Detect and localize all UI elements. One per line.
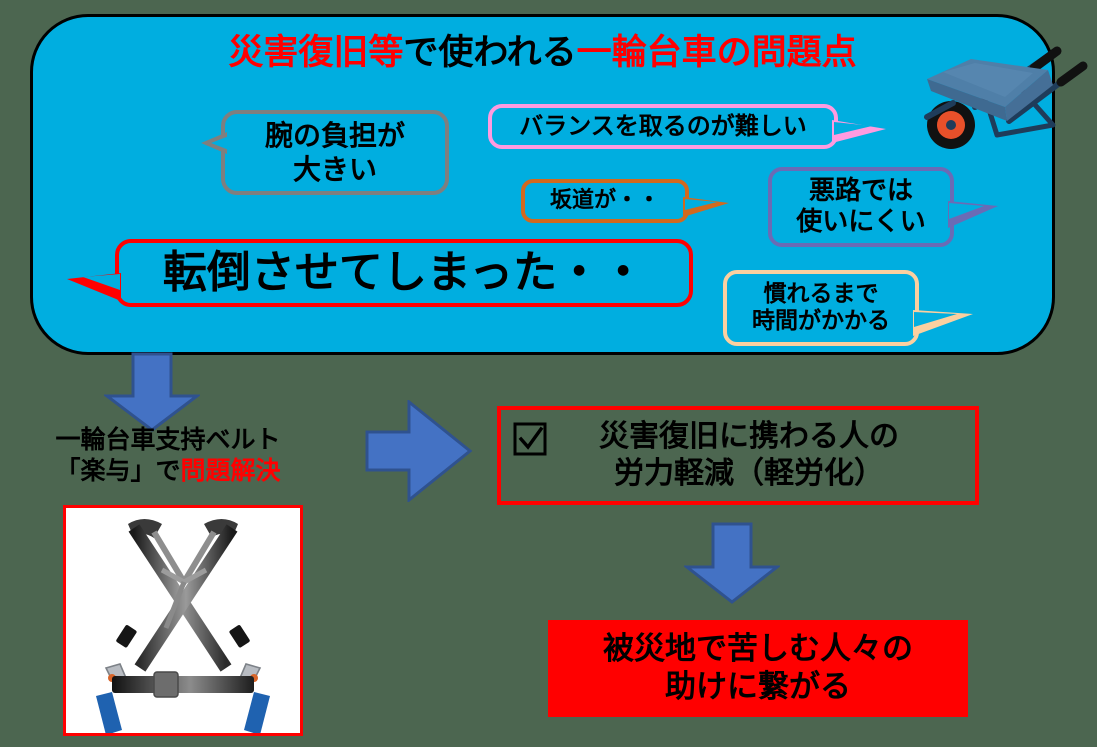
- page-title-part2: で使われる: [403, 33, 576, 73]
- belt-caption-line2-red: 問題解決: [181, 456, 281, 485]
- page-title: 災害復旧等で使われる一輪台車の問題点: [33, 35, 1052, 72]
- speech-bubble-tail-fill: [211, 136, 229, 150]
- speech-bubble-rough-road-text: 悪路では 使いにくい: [796, 176, 925, 237]
- speech-bubble-tipped-over-text: 転倒させてしまった・・: [163, 247, 645, 299]
- belt-caption-line1: 一輪台車支持ベルト: [55, 425, 280, 454]
- speech-bubble-arm-burden: 腕の負担が 大きい: [221, 110, 449, 195]
- speech-bubble-tail-fill: [83, 274, 120, 290]
- result-text-line2: 助けに繋がる: [665, 669, 851, 705]
- bubble-line-2: 使いにくい: [796, 207, 925, 237]
- problem-panel: 災害復旧等で使われる一輪台車の問題点 腕の負担が 大きい バランスを取るのが難し…: [30, 14, 1055, 355]
- result-text-line1: 被災地で苦しむ人々の: [603, 631, 913, 667]
- belt-caption-line2-black: 「楽与」で: [55, 456, 180, 485]
- wheelbarrow-icon: [913, 37, 1097, 155]
- speech-bubble-slope: 坂道が・・: [521, 179, 689, 223]
- page-title-part1: 災害復旧等: [228, 33, 403, 73]
- speech-bubble-arm-burden-text: 腕の負担が 大きい: [265, 119, 405, 185]
- speech-bubble-balance: バランスを取るのが難しい: [488, 104, 838, 149]
- belt-caption: 一輪台車支持ベルト 「楽与」で問題解決: [18, 424, 318, 486]
- harness-belt-illustration: [66, 508, 300, 733]
- goal-box: 災害復旧に携わる人の 労力軽減（軽労化）: [497, 406, 979, 505]
- arrow-right-icon-belt-to-goal: [365, 400, 473, 502]
- bubble-line-2: 時間がかかる: [752, 308, 890, 334]
- speech-bubble-slope-text: 坂道が・・: [550, 188, 660, 214]
- speech-bubble-balance-text: バランスを取るのが難しい: [519, 112, 807, 140]
- arrow-down-icon-panel-to-belt: [104, 352, 200, 432]
- result-text: 被災地で苦しむ人々の 助けに繋がる: [603, 631, 913, 705]
- speech-bubble-tail-fill: [685, 199, 717, 210]
- goal-text: 災害復旧に携わる人の 労力軽減（軽労化）: [557, 419, 975, 492]
- bubble-line-1: 慣れるまで: [764, 281, 879, 307]
- speech-bubble-learning-time: 慣れるまで 時間がかかる: [723, 270, 919, 346]
- bubble-line-1: 腕の負担が: [265, 119, 405, 152]
- speech-bubble-tail-fill: [914, 312, 957, 327]
- checked-checkbox-icon: [513, 422, 547, 456]
- bubble-line-2: 大きい: [293, 153, 377, 186]
- speech-bubble-tail-fill: [834, 122, 872, 135]
- arrow-down-icon-goal-to-result: [684, 522, 780, 604]
- page-title-part3: 一輪台車の問題点: [577, 33, 857, 73]
- speech-bubble-rough-road: 悪路では 使いにくい: [768, 167, 954, 247]
- goal-text-line1: 災害復旧に携わる人の: [599, 419, 899, 454]
- goal-text-line2: 労力軽減（軽労化）: [614, 456, 884, 491]
- speech-bubble-tail-fill: [949, 203, 984, 219]
- result-box: 被災地で苦しむ人々の 助けに繋がる: [548, 620, 968, 717]
- bubble-line-1: 悪路では: [809, 176, 913, 206]
- speech-bubble-tipped-over: 転倒させてしまった・・: [115, 239, 693, 307]
- harness-belt-photo: [63, 505, 303, 736]
- speech-bubble-learning-time-text: 慣れるまで 時間がかかる: [752, 281, 890, 335]
